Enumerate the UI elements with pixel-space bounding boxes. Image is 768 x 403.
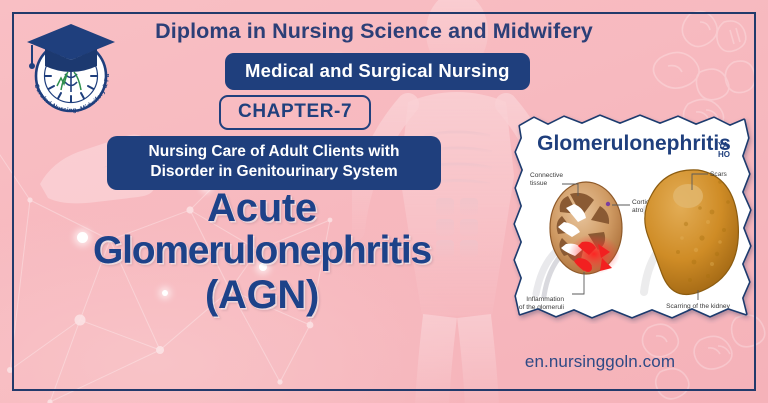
label-scars: Scars — [710, 171, 728, 178]
label-connective-tissue-line-2: tissue — [530, 180, 548, 187]
page-title-line-2: Glomerulonephritis — [8, 230, 516, 273]
illustration-heading: Glomerulonephritis — [537, 132, 731, 155]
page-title-line-1: Acute — [8, 186, 516, 230]
kidney-comparison-diagram: Glomerulonephritis YA HO — [512, 112, 756, 324]
chapter-badge: CHAPTER-7 — [219, 95, 371, 130]
page-title-line-3: (AGN) — [8, 273, 516, 317]
page-title: Acute Glomerulonephritis (AGN) — [8, 186, 516, 317]
subject-badge: Medical and Surgical Nursing — [225, 53, 530, 90]
glomerulonephritis-illustration-card: Glomerulonephritis YA HO — [512, 112, 756, 324]
gurukul-nursing-logo: Gurukul Nursing, Midwifery & Patient Car… — [19, 18, 123, 122]
footer-url[interactable]: en.nursinggoln.com — [455, 352, 745, 372]
unit-title-line-2: Disorder in Genitourinary System — [119, 162, 429, 182]
slide-canvas: Gurukul Nursing, Midwifery & Patient Car… — [0, 0, 768, 403]
label-connective-tissue-line-1: Connective — [530, 172, 563, 179]
corner-mark-line-1: YA — [718, 141, 729, 150]
diploma-title: Diploma in Nursing Science and Midwifery — [118, 19, 630, 44]
label-scarring: Scarring of the kidney — [666, 303, 730, 310]
unit-title-badge: Nursing Care of Adult Clients with Disor… — [107, 136, 441, 190]
label-inflammation-line-1: Inflammation — [526, 296, 564, 303]
unit-title-line-1: Nursing Care of Adult Clients with — [119, 142, 429, 162]
corner-mark-line-2: HO — [718, 150, 730, 159]
